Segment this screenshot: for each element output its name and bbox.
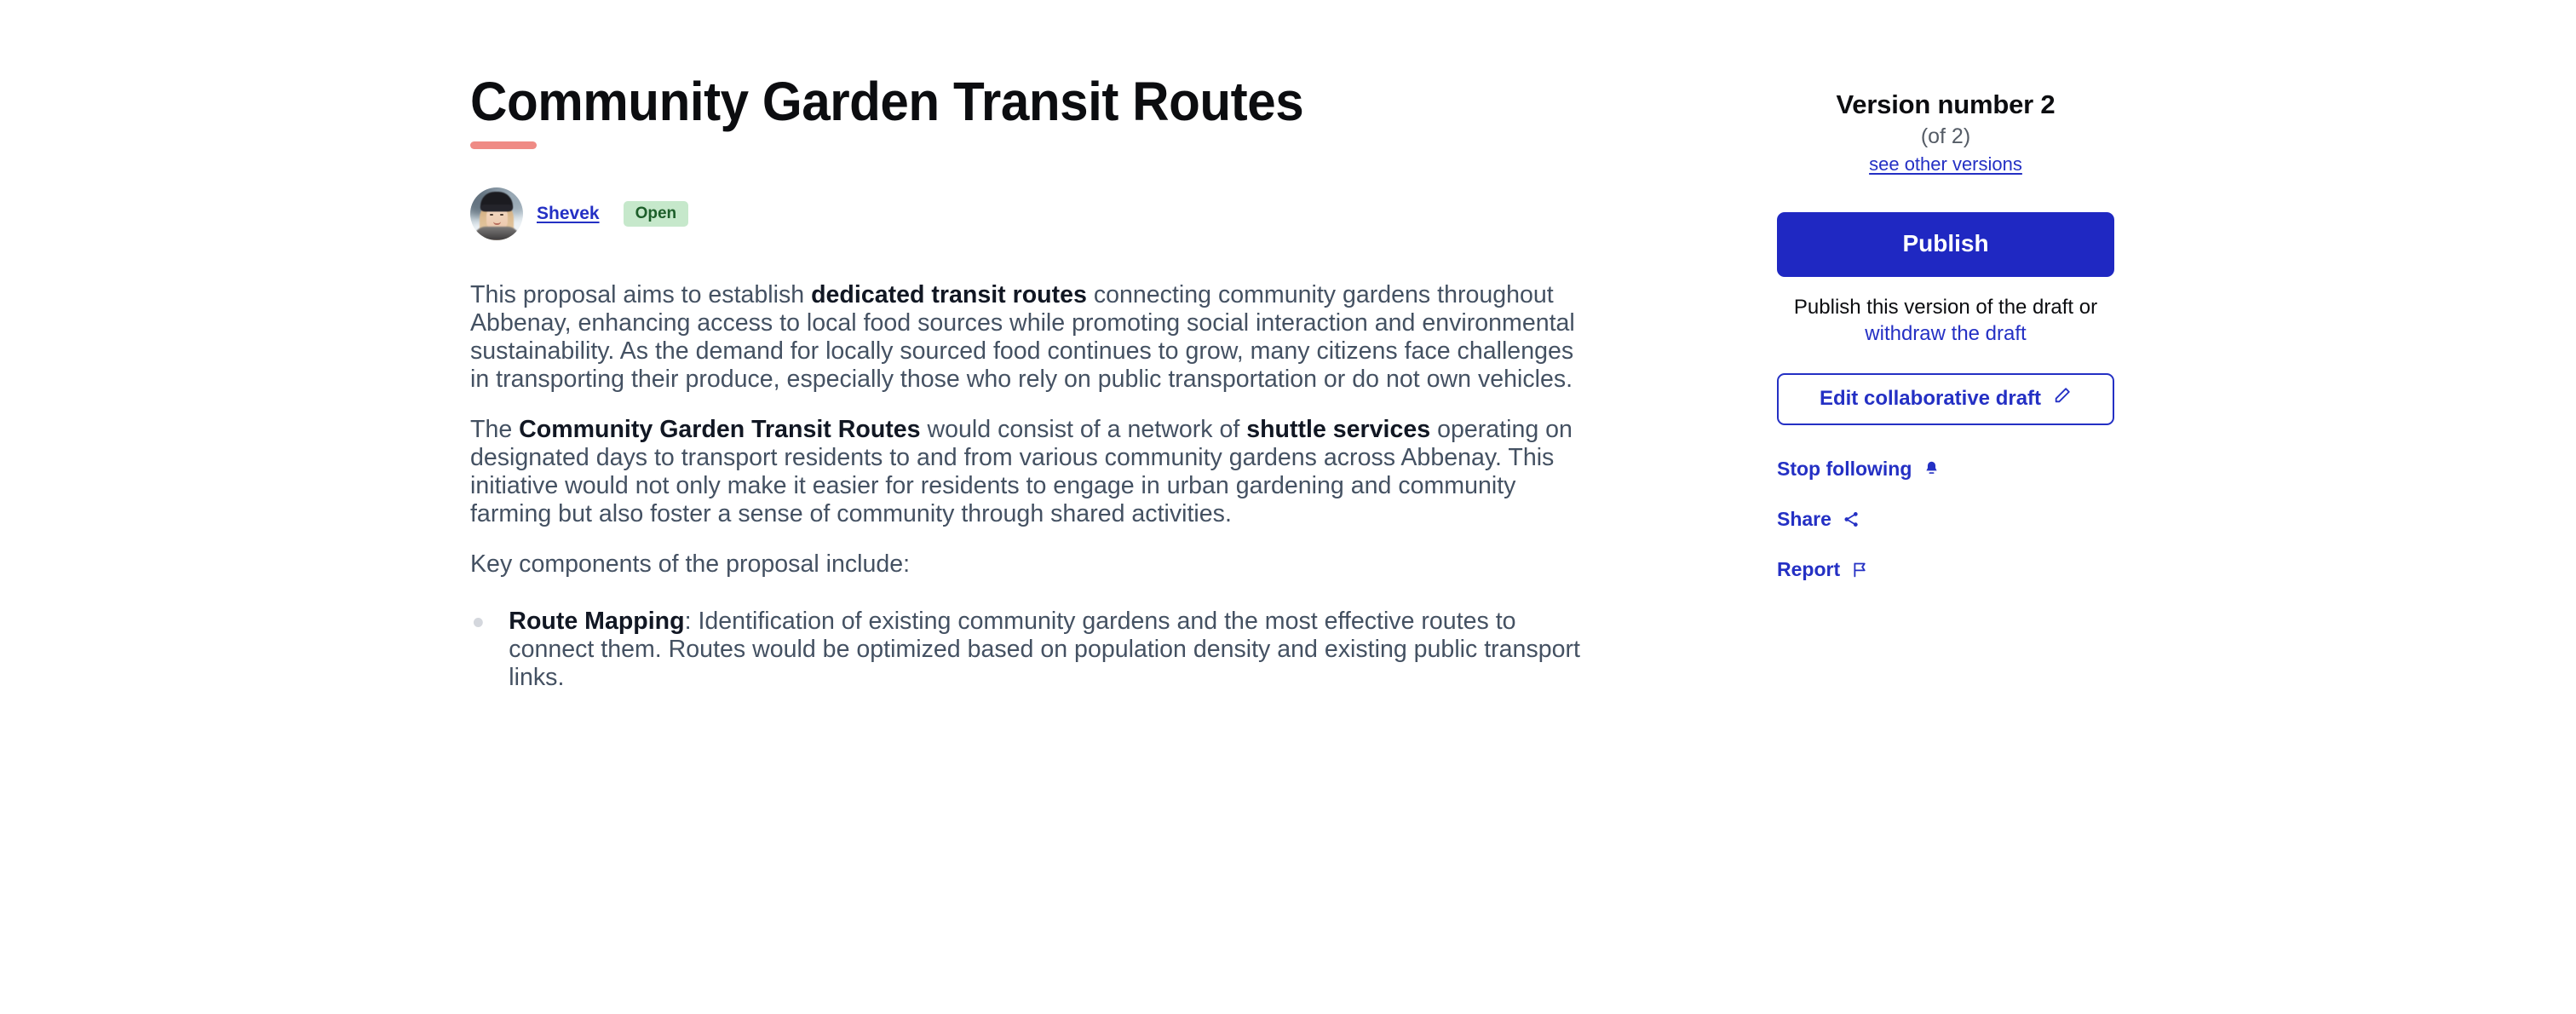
paragraph: The Community Garden Transit Routes woul… — [470, 416, 1599, 528]
list-item: Route Mapping: Identification of existin… — [470, 608, 1599, 692]
title-accent-rule — [470, 141, 537, 149]
share-label: Share — [1777, 508, 1831, 531]
withdraw-draft-link[interactable]: withdraw the draft — [1865, 322, 2026, 345]
status-badge: Open — [624, 201, 689, 227]
flag-icon — [1851, 561, 1869, 579]
report-link[interactable]: Report — [1777, 558, 1869, 581]
pencil-icon — [2053, 386, 2072, 411]
edit-collaborative-draft-label: Edit collaborative draft — [1820, 387, 2041, 411]
stop-following-link[interactable]: Stop following — [1777, 458, 1941, 481]
share-link[interactable]: Share — [1777, 508, 1860, 531]
report-label: Report — [1777, 558, 1840, 581]
publish-note-text: Publish this version of the draft or — [1794, 296, 2097, 319]
publish-button[interactable]: Publish — [1777, 212, 2114, 277]
version-count-label: (of 2) — [1777, 124, 2114, 149]
version-sidebar: Version number 2 (of 2) see other versio… — [1777, 0, 2114, 608]
paragraph: Key components of the proposal include: — [470, 550, 1599, 579]
avatar — [470, 187, 523, 240]
proposal-main-column: Community Garden Transit Routes Shevek O… — [470, 0, 1629, 692]
publish-note: Publish this version of the draft or wit… — [1777, 294, 2114, 347]
version-number-heading: Version number 2 — [1777, 89, 2114, 120]
share-nodes-icon — [1843, 510, 1860, 528]
key-components-list: Route Mapping: Identification of existin… — [470, 608, 1616, 692]
proposal-page: Community Garden Transit Routes Shevek O… — [0, 0, 2576, 1014]
edit-collaborative-draft-button[interactable]: Edit collaborative draft — [1777, 373, 2114, 425]
page-title: Community Garden Transit Routes — [470, 72, 1559, 131]
sidebar-action-list: Stop following Share — [1777, 458, 2114, 581]
stop-following-label: Stop following — [1777, 458, 1912, 481]
bell-icon — [1923, 460, 1941, 478]
author-link[interactable]: Shevek — [537, 204, 600, 224]
author-row: Shevek Open — [470, 187, 1629, 240]
proposal-body: This proposal aims to establish dedicate… — [470, 281, 1616, 692]
paragraph: This proposal aims to establish dedicate… — [470, 281, 1599, 394]
see-other-versions-link[interactable]: see other versions — [1869, 153, 2022, 176]
